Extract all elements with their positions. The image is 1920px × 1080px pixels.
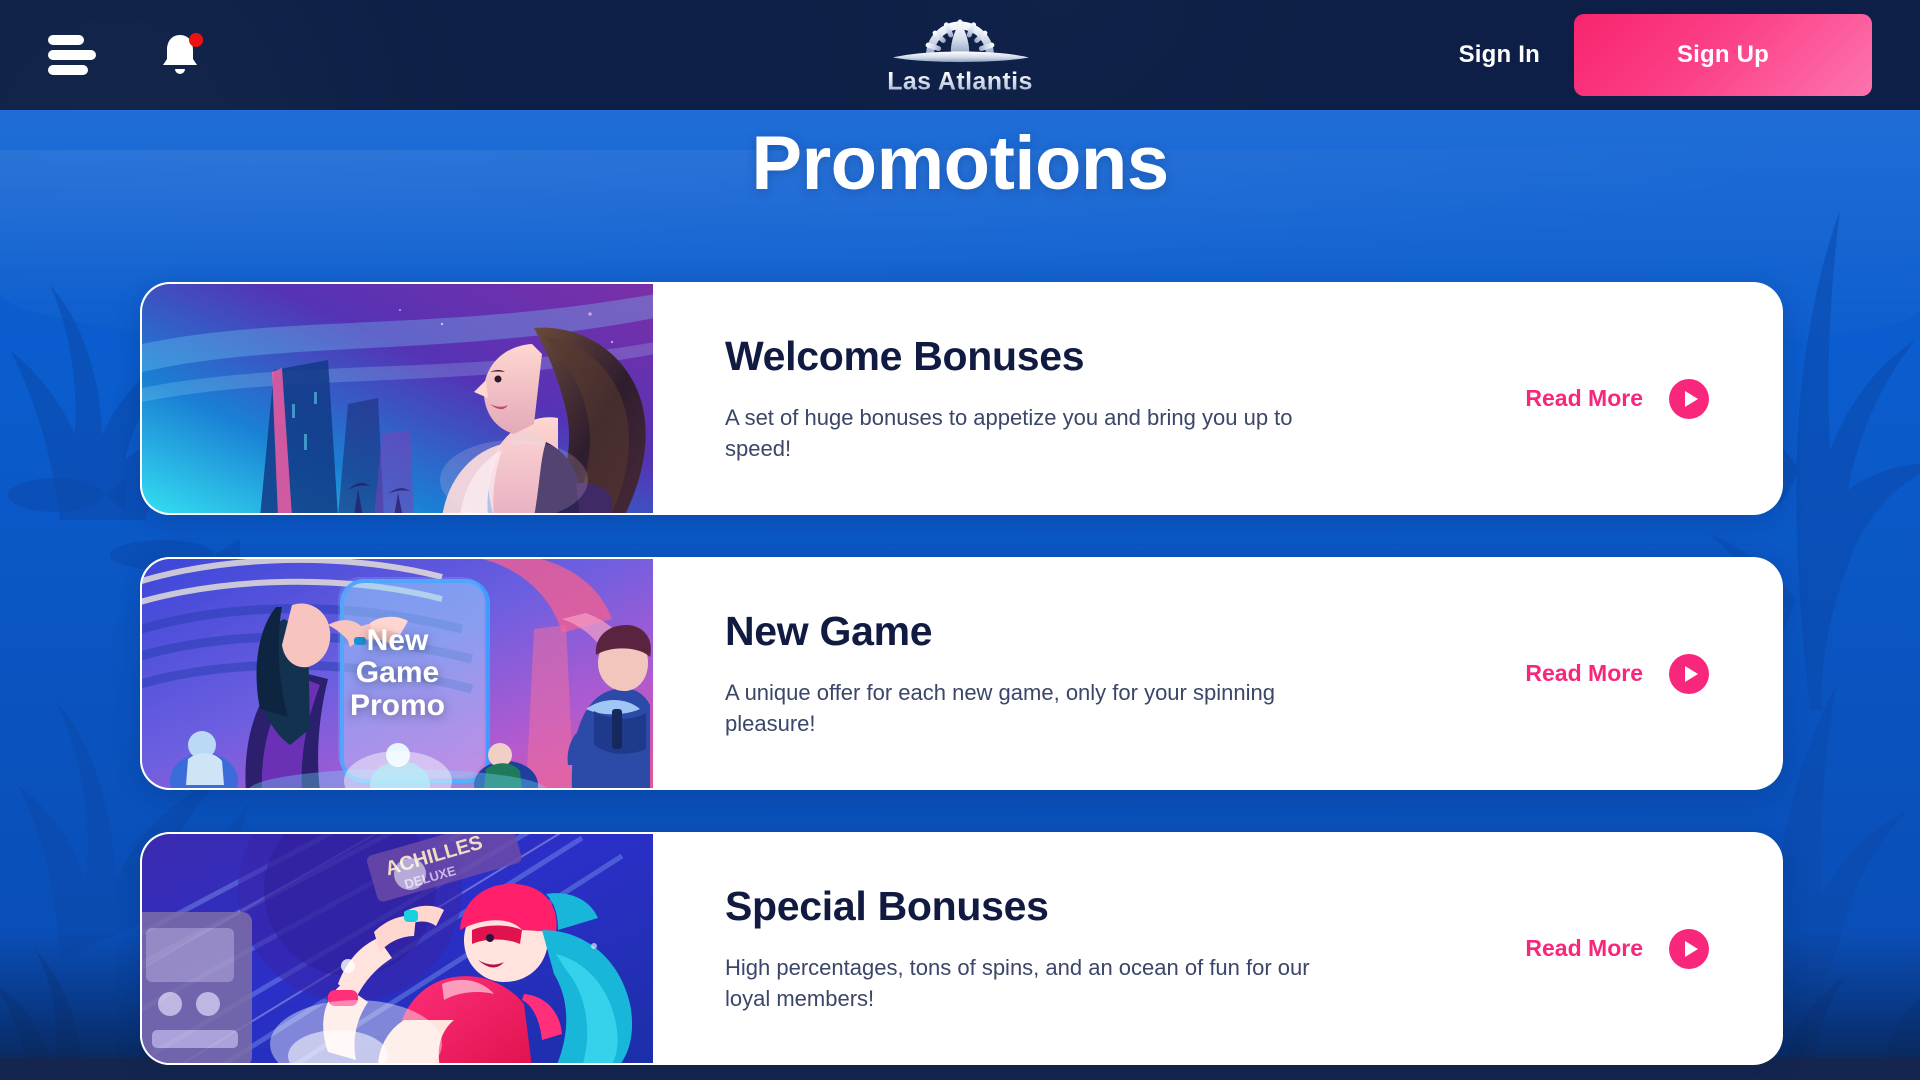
play-circle-icon[interactable] [1669, 654, 1709, 694]
promotion-thumbnail-overlay [142, 834, 653, 1063]
notification-badge-dot [189, 33, 203, 47]
bell-icon[interactable] [158, 31, 202, 79]
promotion-thumbnail[interactable]: ACHILLES DELUXE [140, 832, 653, 1065]
promotion-card[interactable]: ACHILLES DELUXE [140, 832, 1783, 1065]
promotion-title: New Game [725, 608, 1495, 655]
sign-in-button[interactable]: Sign In [1425, 41, 1574, 69]
promotion-card-body: Welcome Bonuses A set of huge bonuses to… [653, 282, 1783, 515]
promotion-description: A unique offer for each new game, only f… [725, 677, 1315, 739]
promotion-thumbnail-overlay: NewGamePromo [142, 559, 653, 788]
sign-up-button[interactable]: Sign Up [1574, 14, 1872, 96]
play-circle-icon[interactable] [1669, 379, 1709, 419]
promotion-card-body: Special Bonuses High percentages, tons o… [653, 832, 1783, 1065]
page-title: Promotions [0, 120, 1920, 207]
read-more-label: Read More [1525, 935, 1643, 962]
read-more-button[interactable]: Read More [1525, 654, 1783, 694]
promotion-card[interactable]: NewGamePromo New Game A unique offer for… [140, 557, 1783, 790]
promotions-list: Welcome Bonuses A set of huge bonuses to… [140, 282, 1783, 1080]
promotion-thumbnail-overlay [142, 284, 653, 513]
play-triangle [1685, 391, 1698, 407]
promotion-title: Special Bonuses [725, 883, 1495, 930]
promotion-thumbnail[interactable] [140, 282, 653, 515]
promotion-description: High percentages, tons of spins, and an … [725, 952, 1315, 1014]
promotion-description: A set of huge bonuses to appetize you an… [725, 402, 1315, 464]
promotion-title: Welcome Bonuses [725, 333, 1495, 380]
promotion-thumbnail[interactable]: NewGamePromo [140, 557, 653, 790]
header-right-group: Sign In Sign Up [1425, 0, 1920, 110]
promotion-text-block: New Game A unique offer for each new gam… [725, 608, 1525, 739]
read-more-button[interactable]: Read More [1525, 929, 1783, 969]
fish-decoration-left [0, 460, 126, 530]
read-more-label: Read More [1525, 660, 1643, 687]
thumbnail-promo-text: NewGamePromo [350, 625, 445, 722]
site-header: Las Atlantis Sign In Sign Up [0, 0, 1920, 110]
promotion-card-body: New Game A unique offer for each new gam… [653, 557, 1783, 790]
site-logo[interactable]: Las Atlantis [850, 14, 1070, 97]
play-triangle [1685, 941, 1698, 957]
read-more-button[interactable]: Read More [1525, 379, 1783, 419]
hamburger-menu-icon[interactable] [48, 35, 96, 75]
header-left-group [0, 31, 202, 79]
read-more-label: Read More [1525, 385, 1643, 412]
atlantis-shell-icon [885, 14, 1035, 70]
promotion-text-block: Welcome Bonuses A set of huge bonuses to… [725, 333, 1525, 464]
play-circle-icon[interactable] [1669, 929, 1709, 969]
promotions-page: Las Atlantis Sign In Sign Up Promotions [0, 0, 1920, 1080]
logo-wordmark: Las Atlantis [850, 68, 1070, 97]
promotion-card[interactable]: Welcome Bonuses A set of huge bonuses to… [140, 282, 1783, 515]
promotion-text-block: Special Bonuses High percentages, tons o… [725, 883, 1525, 1014]
play-triangle [1685, 666, 1698, 682]
